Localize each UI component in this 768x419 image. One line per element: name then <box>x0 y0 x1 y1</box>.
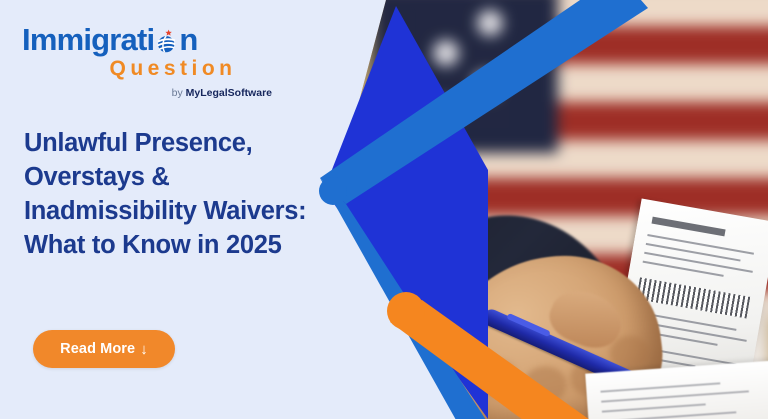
flag-star <box>430 100 456 126</box>
flag-star <box>473 72 499 98</box>
document-heading-block <box>652 217 726 237</box>
globe-icon <box>154 29 179 54</box>
read-more-label: Read More <box>60 341 135 357</box>
document-text-line <box>600 382 720 392</box>
document-text-line <box>646 243 741 262</box>
headline-line-4: What to Know in 2025 <box>24 229 364 263</box>
logo-word-before-globe: Immigrati <box>22 24 154 55</box>
headline-line-2: Overstays & <box>24 161 364 195</box>
headline-line-3: Inadmissibility Waivers: <box>24 195 364 229</box>
logo-wordmark: Immigrati n <box>22 22 272 56</box>
logo-subword: Question <box>74 58 272 79</box>
logo-tagline: by MyLegalSoftware <box>22 88 272 99</box>
document-text-line <box>601 390 749 402</box>
knuckle <box>521 364 569 407</box>
document-text-line <box>603 411 737 419</box>
tagline-prefix: by <box>172 87 183 99</box>
read-more-button[interactable]: Read More ↓ <box>33 330 175 368</box>
arrow-down-icon: ↓ <box>140 341 148 358</box>
knuckle <box>473 358 519 399</box>
logo-word-after-globe: n <box>179 24 197 55</box>
content-panel: Immigrati n Question by MyLegalSoftwar <box>0 0 400 419</box>
page-title: Unlawful Presence, Overstays & Inadmissi… <box>24 127 364 263</box>
headline-line-1: Unlawful Presence, <box>24 127 364 161</box>
flag-star <box>477 10 503 36</box>
flag-star <box>433 40 459 66</box>
document-text-line <box>602 403 706 412</box>
brand-logo[interactable]: Immigrati n Question by MyLegalSoftwar <box>22 22 272 99</box>
flag-union <box>373 0 558 153</box>
tagline-brand: MyLegalSoftware <box>186 87 272 99</box>
promo-banner: Immigrati n Question by MyLegalSoftwar <box>0 0 768 419</box>
